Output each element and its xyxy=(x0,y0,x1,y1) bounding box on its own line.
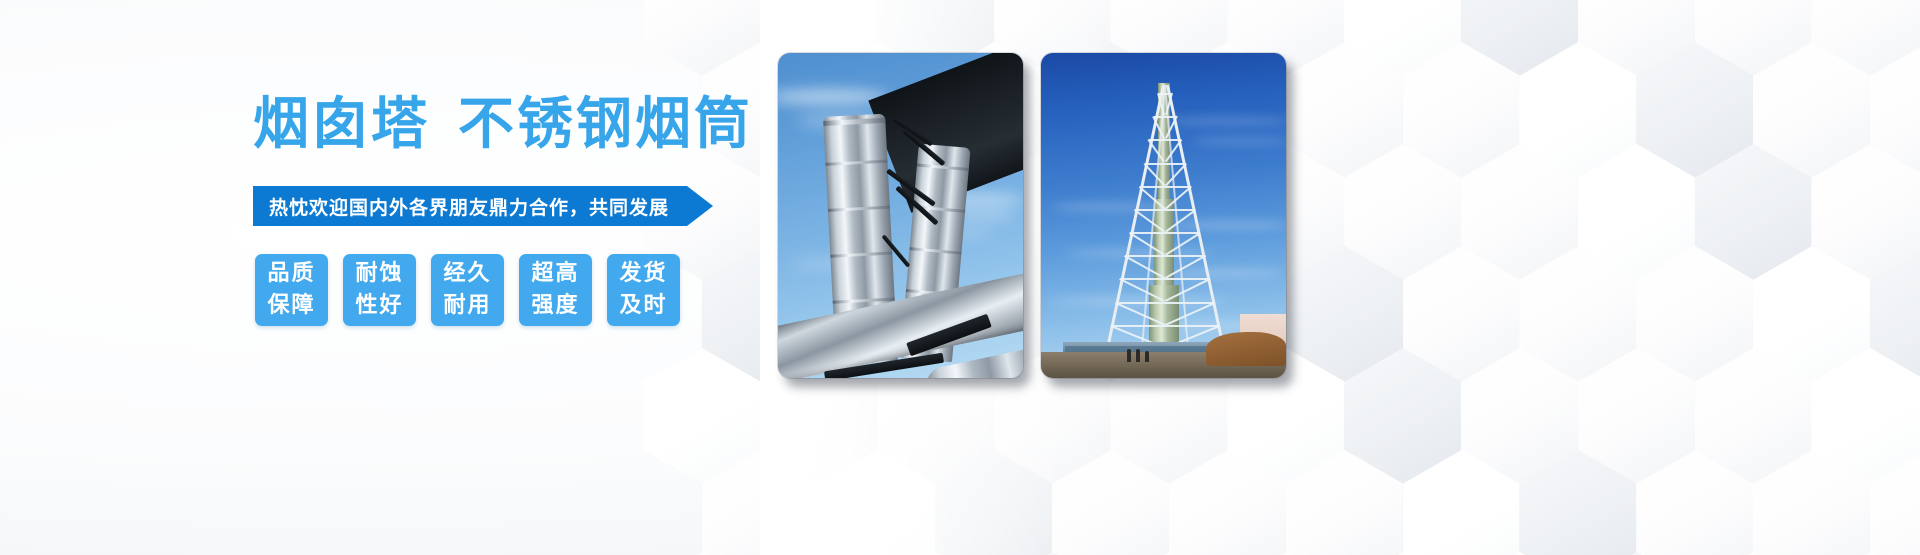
feature-badge[interactable]: 耐蚀 性好 xyxy=(343,254,416,326)
feature-badge-list: 品质 保障 耐蚀 性好 经久 耐用 超高 强度 发货 及时 xyxy=(255,254,680,326)
lattice-brace xyxy=(1165,163,1187,186)
hexagon-tile xyxy=(1169,450,1287,555)
badge-line-1: 经久 xyxy=(443,258,491,290)
lattice-brace xyxy=(1129,232,1165,256)
feature-badge[interactable]: 发货 及时 xyxy=(607,254,680,326)
stainless-steel-chimney-stacks-photo[interactable] xyxy=(778,53,1023,378)
hexagon-tile xyxy=(1753,42,1871,178)
lattice-brace xyxy=(1165,278,1211,302)
hexagon-tile xyxy=(1286,42,1404,178)
hexagon-tile xyxy=(1870,246,1920,382)
hexagon-tile xyxy=(1811,0,1920,76)
lattice-brace xyxy=(1119,278,1165,302)
hexagon-tile xyxy=(1286,450,1404,555)
steel-lattice-chimney-tower-photo[interactable] xyxy=(1041,53,1286,378)
hexagon-tile xyxy=(1578,144,1696,280)
feature-badge[interactable]: 经久 耐用 xyxy=(431,254,504,326)
hexagon-tile xyxy=(1461,144,1579,280)
promo-banner: 烟囱塔不锈钢烟筒 热忱欢迎国内外各界朋友鼎力合作，共同发展 品质 保障 耐蚀 性… xyxy=(0,0,1920,555)
headline-part-1: 烟囱塔 xyxy=(253,91,430,157)
banner-copy-block: 烟囱塔不锈钢烟筒 热忱欢迎国内外各界朋友鼎力合作，共同发展 品质 保障 耐蚀 性… xyxy=(253,0,773,555)
hexagon-tile xyxy=(1519,42,1637,178)
lattice-brace xyxy=(1140,186,1191,188)
badge-line-1: 耐蚀 xyxy=(355,258,403,290)
hexagon-tile xyxy=(1753,450,1871,555)
hexagon-tile xyxy=(1344,0,1462,76)
hexagon-tile xyxy=(1286,246,1404,382)
hexagon-tile xyxy=(1636,42,1754,178)
lattice-brace xyxy=(1165,186,1192,210)
hexagon-tile xyxy=(1870,450,1920,555)
lattice-brace xyxy=(1138,186,1165,210)
hexagon-tile xyxy=(1870,42,1920,178)
lattice-brace xyxy=(1143,163,1165,186)
feature-badge[interactable]: 品质 保障 xyxy=(255,254,328,326)
lattice-brace xyxy=(1111,325,1220,327)
hexagon-tile xyxy=(1695,0,1813,76)
lattice-brace xyxy=(1154,116,1176,118)
headline-part-2: 不锈钢烟筒 xyxy=(458,91,753,157)
hexagon-tile xyxy=(1461,0,1579,76)
hexagon-tile xyxy=(1344,348,1462,484)
badge-line-1: 超高 xyxy=(531,258,579,290)
hexagon-tile xyxy=(1519,246,1637,382)
hexagon-tile xyxy=(1811,348,1920,484)
badge-line-2: 耐用 xyxy=(443,290,491,322)
hexagon-tile xyxy=(1636,450,1754,555)
hexagon-tile xyxy=(1811,144,1920,280)
hexagon-tile xyxy=(1403,246,1521,382)
badge-line-1: 发货 xyxy=(619,258,667,290)
badge-line-1: 品质 xyxy=(267,258,315,290)
lattice-brace xyxy=(1165,302,1215,326)
banner-headline: 烟囱塔不锈钢烟筒 xyxy=(253,92,753,156)
hexagon-tile xyxy=(1461,348,1579,484)
hexagon-tile xyxy=(1695,144,1813,280)
lattice-brace xyxy=(1120,278,1209,280)
hexagon-tile xyxy=(1636,246,1754,382)
hexagon-tile xyxy=(1403,450,1521,555)
lattice-brace xyxy=(1159,93,1171,95)
lattice-brace xyxy=(1115,302,1165,326)
lattice-brace xyxy=(1134,209,1165,233)
hexagon-tile xyxy=(1344,144,1462,280)
lattice-brace xyxy=(1124,255,1165,279)
hexagon-tile xyxy=(818,450,936,555)
lattice-brace xyxy=(1149,139,1180,141)
lattice-brace xyxy=(1116,302,1215,304)
lattice-brace xyxy=(1130,232,1200,234)
hexagon-tile xyxy=(935,450,1053,555)
hexagon-tile xyxy=(1052,450,1170,555)
badge-line-2: 性好 xyxy=(355,290,403,322)
lattice-brace xyxy=(1125,255,1205,257)
hexagon-tile xyxy=(1578,0,1696,76)
badge-line-2: 保障 xyxy=(267,290,315,322)
badge-line-2: 强度 xyxy=(531,290,579,322)
hexagon-tile xyxy=(1519,450,1637,555)
banner-slogan-ribbon: 热忱欢迎国内外各界朋友鼎力合作，共同发展 xyxy=(253,186,713,226)
lattice-brace xyxy=(1145,163,1186,165)
slogan-text: 热忱欢迎国内外各界朋友鼎力合作，共同发展 xyxy=(269,193,669,220)
feature-badge[interactable]: 超高 强度 xyxy=(519,254,592,326)
hexagon-tile xyxy=(1403,42,1521,178)
lattice-brace xyxy=(1165,209,1196,233)
lattice-brace xyxy=(1135,209,1195,211)
hexagon-tile xyxy=(1695,348,1813,484)
lattice-brace xyxy=(1165,232,1201,256)
badge-line-2: 及时 xyxy=(619,290,667,322)
lattice-brace xyxy=(1165,255,1206,279)
hexagon-tile xyxy=(1753,246,1871,382)
hexagon-tile xyxy=(1578,348,1696,484)
dirt-mound xyxy=(1206,332,1286,366)
